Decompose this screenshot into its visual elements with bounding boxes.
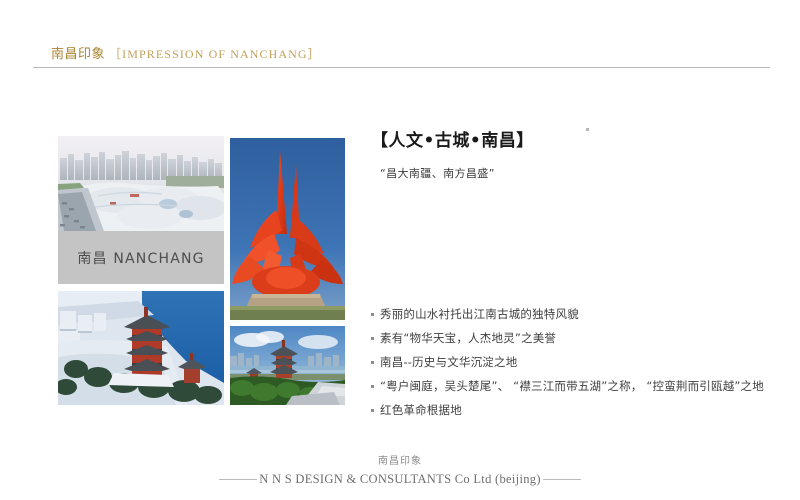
bullet-dot-icon xyxy=(371,385,374,388)
image-gallery: 南昌 NANCHANG xyxy=(58,136,345,405)
bullet-dot-icon xyxy=(371,409,374,412)
list-item-label: 秀丽的山水衬托出江南古城的独特风貌 xyxy=(380,306,579,322)
header-title-cn: 南昌印象 xyxy=(51,47,105,62)
list-item: “粤户闽庭，吴头楚尾”、 “襟三江而带五湖”之称， “控蛮荆而引瓯越”之地 xyxy=(371,378,791,394)
header-title-en: ［IMPRESSION OF NANCHANG］ xyxy=(109,47,321,61)
list-item: 南昌--历史与文华沉淀之地 xyxy=(371,354,791,370)
bullet-dot-icon xyxy=(371,313,374,316)
list-item: 红色革命根据地 xyxy=(371,402,791,418)
gallery-caption-band: 南昌 NANCHANG xyxy=(58,231,224,284)
bullet-dot-icon xyxy=(371,361,374,364)
gallery-caption-text: 南昌 NANCHANG xyxy=(77,248,204,268)
list-item-label: 红色革命根据地 xyxy=(380,402,462,418)
list-item: 素有“物华天宝，人杰地灵”之美誉 xyxy=(371,330,791,346)
red-sculpture-image xyxy=(230,138,345,320)
list-item: 秀丽的山水衬托出江南古城的独特风貌 xyxy=(371,306,791,322)
riverside-pavilion-image xyxy=(230,326,345,405)
footer-company-cn: 南昌印象 xyxy=(0,452,800,467)
header-title: 南昌印象［IMPRESSION OF NANCHANG］ xyxy=(51,44,321,65)
list-item-label: 素有“物华天宝，人杰地灵”之美誉 xyxy=(380,330,556,346)
sub-title: “昌大南疆、南方昌盛” xyxy=(380,165,781,181)
footer-rule-right xyxy=(543,479,581,480)
list-item-label: 南昌--历史与文华沉淀之地 xyxy=(380,354,517,370)
footer-rule-row: N N S DESIGN & CONSULTANTS Co Ltd (beiji… xyxy=(0,472,800,487)
bullet-list: 秀丽的山水衬托出江南古城的独特风貌 素有“物华天宝，人杰地灵”之美誉 南昌--历… xyxy=(371,306,791,426)
footer-rule-left xyxy=(219,479,257,480)
nanchang-cityscape-aerial-image xyxy=(58,136,224,231)
bullet-dot-icon xyxy=(371,337,374,340)
content-block: 【人文•古城•南昌】 “昌大南疆、南方昌盛” xyxy=(371,130,781,181)
footer-company-en: N N S DESIGN & CONSULTANTS Co Ltd (beiji… xyxy=(257,472,543,487)
list-item-label: “粤户闽庭，吴头楚尾”、 “襟三江而带五湖”之称， “控蛮荆而引瓯越”之地 xyxy=(380,378,764,394)
page-header: 南昌印象［IMPRESSION OF NANCHANG］ xyxy=(33,44,770,70)
page-footer: 南昌印象 N N S DESIGN & CONSULTANTS Co Ltd (… xyxy=(0,452,800,487)
header-divider xyxy=(33,67,770,68)
main-title: 【人文•古城•南昌】 xyxy=(371,130,781,152)
decorative-speck xyxy=(586,128,589,131)
tengwang-pavilion-snow-image xyxy=(58,291,224,405)
